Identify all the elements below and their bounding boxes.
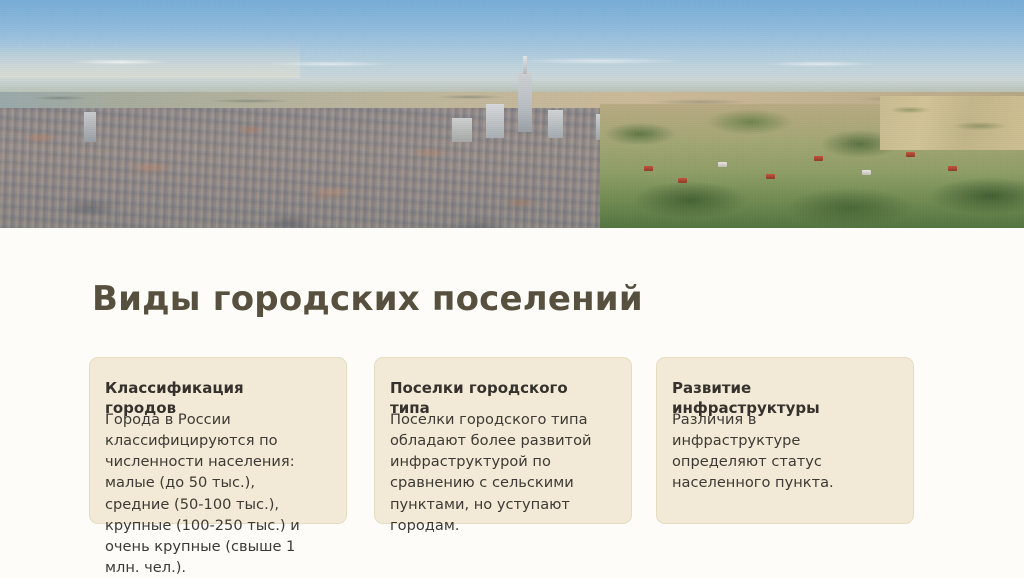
info-card-classification-content: Классификация городов Города в России кл… (89, 357, 347, 557)
house-roof (678, 178, 687, 183)
highrise-building (452, 118, 472, 142)
house-roof (948, 166, 957, 171)
highrise-building (84, 112, 96, 142)
highrise-building (548, 110, 563, 138)
dense-urban-area (0, 108, 700, 228)
highrise-building (486, 104, 504, 138)
card-text: Города в России классифицируются по числ… (105, 409, 317, 578)
house-roof (862, 170, 871, 175)
house-roof (644, 166, 653, 171)
cards-row: Классификация городов Города в России кл… (0, 228, 1024, 576)
agricultural-fields (880, 96, 1024, 150)
house-roof (906, 152, 915, 157)
landmark-tower (518, 72, 532, 132)
info-card-urban-settlements-content: Поселки городского типа Поселки городско… (374, 357, 632, 557)
house-roof (766, 174, 775, 179)
slide-content: Виды городских поселений Классификация г… (0, 228, 1024, 576)
info-card-infrastructure-content: Развитие инфраструктуры Различия в инфра… (656, 357, 914, 557)
hero-aerial-city-photo (0, 0, 1024, 228)
house-roof (718, 162, 727, 167)
cloud-band (0, 56, 1024, 70)
card-text: Различия в инфраструктуре определяют ста… (672, 409, 884, 494)
card-text: Поселки городского типа обладают более р… (390, 409, 602, 536)
urban-rooftop-texture (0, 108, 700, 228)
house-roof (814, 156, 823, 161)
